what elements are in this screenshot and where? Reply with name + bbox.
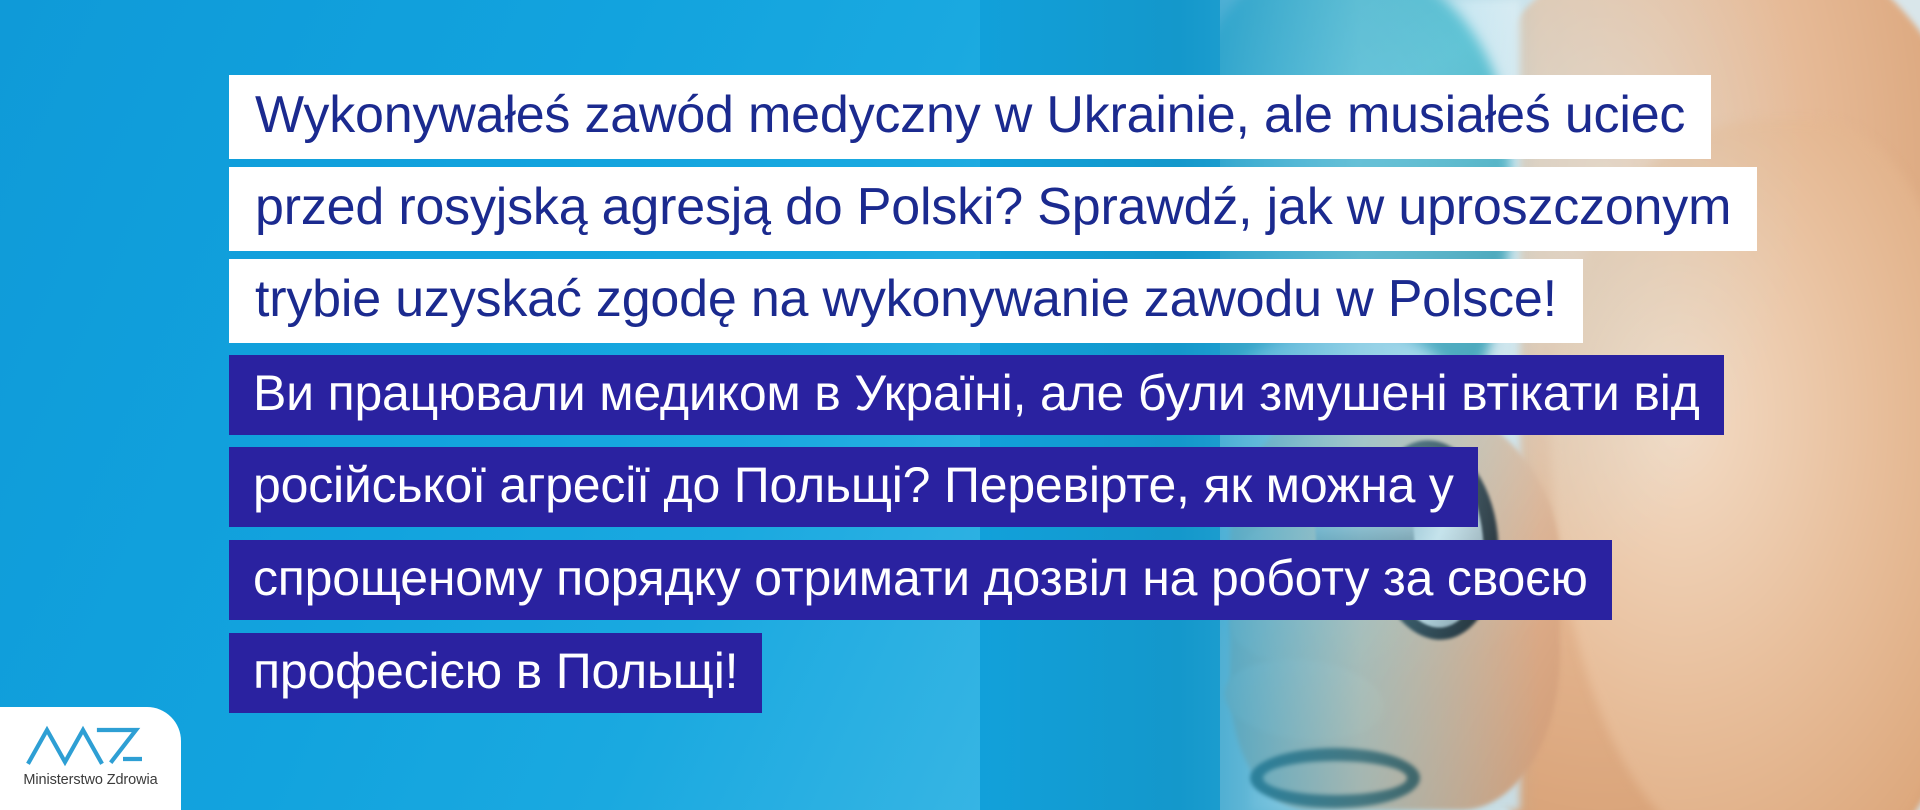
ukrainian-line-3: спрощеному порядку отримати дозвіл на ро… bbox=[229, 540, 1612, 620]
polish-line-1: Wykonywałeś zawód medyczny w Ukrainie, a… bbox=[229, 75, 1711, 159]
ukrainian-message-line: російської агресії до Польщі? Перевірте,… bbox=[229, 447, 1478, 527]
ministry-logo-badge: Ministerstwo Zdrowia bbox=[0, 707, 181, 810]
mz-zigzag-icon bbox=[26, 721, 156, 767]
ukrainian-message-line: професією в Польщі! bbox=[229, 633, 762, 713]
ukrainian-line-4: професією в Польщі! bbox=[229, 633, 762, 713]
polish-line-3: trybie uzyskać zgodę na wykonywanie zawo… bbox=[229, 259, 1583, 343]
ukrainian-message-line: спрощеному порядку отримати дозвіл на ро… bbox=[229, 540, 1612, 620]
ministry-logo-caption: Ministerstwo Zdrowia bbox=[23, 772, 157, 788]
polish-line-2: przed rosyjską agresją do Polski? Sprawd… bbox=[229, 167, 1757, 251]
banner: Wykonywałeś zawód medyczny w Ukrainie, a… bbox=[0, 0, 1920, 810]
polish-message-line: Wykonywałeś zawód medyczny w Ukrainie, a… bbox=[229, 75, 1711, 159]
ukrainian-line-2: російської агресії до Польщі? Перевірте,… bbox=[229, 447, 1478, 527]
ukrainian-line-1: Ви працювали медиком в Україні, але були… bbox=[229, 355, 1724, 435]
polish-message-line: przed rosyjską agresją do Polski? Sprawd… bbox=[229, 167, 1757, 251]
message-stack: Wykonywałeś zawód medyczny w Ukrainie, a… bbox=[229, 0, 1689, 810]
ukrainian-message-line: Ви працювали медиком в Україні, але були… bbox=[229, 355, 1724, 435]
polish-message-line: trybie uzyskać zgodę na wykonywanie zawo… bbox=[229, 259, 1583, 343]
